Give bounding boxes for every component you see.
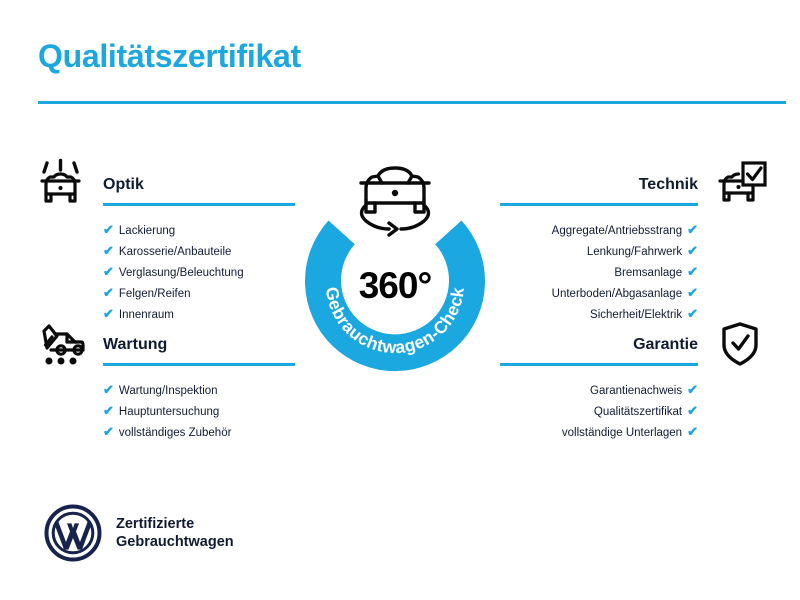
section-header-garantie: Garantie — [498, 318, 768, 370]
section-underline-technik — [500, 203, 698, 206]
list-item-label: Felgen/Reifen — [119, 284, 191, 304]
list-item: ✔Felgen/Reifen — [33, 283, 295, 304]
footer-logo-line2: Gebrauchtwagen — [116, 533, 234, 551]
checklist-garantie: Garantienachweis✔ Qualitätszertifikat✔ v… — [498, 380, 768, 443]
list-item: ✔Karosserie/Anbauteile — [33, 241, 295, 262]
section-wartung: Wartung ✔Wartung/Inspektion ✔Hauptunters… — [33, 318, 295, 443]
volkswagen-logo-icon — [44, 504, 102, 562]
list-item: Bremsanlage✔ — [498, 262, 768, 283]
section-title-garantie: Garantie — [633, 336, 698, 354]
list-item: Unterboden/Abgasanlage✔ — [498, 283, 768, 304]
badge-360-gebrauchtwagen-check: Gebrauchtwagen-Check — [305, 152, 485, 384]
checklist-technik: Aggregate/Antriebsstrang✔ Lenkung/Fahrwe… — [498, 220, 768, 325]
check-icon: ✔ — [687, 241, 698, 261]
section-header-technik: Technik — [498, 158, 768, 210]
footer-logo-lockup: Zertifizierte Gebrauchtwagen — [44, 504, 234, 562]
checklist-wartung: ✔Wartung/Inspektion ✔Hauptuntersuchung ✔… — [33, 380, 295, 443]
list-item-label: Karosserie/Anbauteile — [119, 242, 232, 262]
list-item: ✔Lackierung — [33, 220, 295, 241]
car-service-pencil-icon — [33, 318, 89, 370]
list-item: Garantienachweis✔ — [498, 380, 768, 401]
list-item-label: Garantienachweis — [590, 381, 682, 401]
list-item-label: vollständige Unterlagen — [562, 423, 682, 443]
section-optik: Optik ✔Lackierung ✔Karosserie/Anbauteile… — [33, 158, 295, 325]
list-item-label: Lackierung — [119, 221, 175, 241]
section-title-wartung: Wartung — [103, 336, 167, 354]
section-garantie: Garantie Garantienachweis✔ Qualitätszert… — [498, 318, 768, 443]
check-icon: ✔ — [103, 262, 114, 282]
section-underline-wartung — [103, 363, 295, 366]
section-title-optik: Optik — [103, 176, 144, 194]
badge-number: 360° — [305, 265, 485, 307]
footer-logo-line1: Zertifizierte — [116, 515, 234, 533]
section-technik: Technik Aggregate/Antriebsstrang✔ Lenkun… — [498, 158, 768, 325]
car-rotate-icon — [361, 168, 429, 235]
list-item: vollständige Unterlagen✔ — [498, 422, 768, 443]
check-icon: ✔ — [103, 401, 114, 421]
list-item-label: Aggregate/Antriebsstrang — [552, 221, 682, 241]
check-icon: ✔ — [687, 380, 698, 400]
check-icon: ✔ — [103, 422, 114, 442]
footer-logo-text: Zertifizierte Gebrauchtwagen — [116, 515, 234, 551]
page-title: Qualitätszertifikat — [38, 36, 301, 76]
list-item: ✔Hauptuntersuchung — [33, 401, 295, 422]
check-icon: ✔ — [103, 241, 114, 261]
checklist-optik: ✔Lackierung ✔Karosserie/Anbauteile ✔Verg… — [33, 220, 295, 325]
list-item-label: vollständiges Zubehör — [119, 423, 232, 443]
list-item: ✔vollständiges Zubehör — [33, 422, 295, 443]
list-item-label: Lenkung/Fahrwerk — [587, 242, 682, 262]
title-divider — [38, 101, 786, 104]
list-item-label: Wartung/Inspektion — [119, 381, 218, 401]
check-icon: ✔ — [103, 380, 114, 400]
list-item-label: Unterboden/Abgasanlage — [552, 284, 682, 304]
shield-check-icon — [712, 318, 768, 370]
check-icon: ✔ — [103, 283, 114, 303]
section-title-technik: Technik — [639, 176, 698, 194]
list-item-label: Qualitätszertifikat — [594, 402, 682, 422]
check-icon: ✔ — [687, 422, 698, 442]
check-icon: ✔ — [103, 220, 114, 240]
list-item-label: Bremsanlage — [614, 263, 682, 283]
qualitaetszertifikat-infographic: Qualitätszertifikat — [0, 0, 800, 600]
list-item: ✔Verglasung/Beleuchtung — [33, 262, 295, 283]
list-item: Qualitätszertifikat✔ — [498, 401, 768, 422]
check-icon: ✔ — [687, 401, 698, 421]
car-checkbox-icon — [712, 158, 768, 210]
check-icon: ✔ — [687, 262, 698, 282]
car-polish-icon — [33, 158, 89, 210]
list-item: ✔Wartung/Inspektion — [33, 380, 295, 401]
list-item-label: Hauptuntersuchung — [119, 402, 219, 422]
check-icon: ✔ — [687, 283, 698, 303]
check-icon: ✔ — [687, 220, 698, 240]
list-item: Aggregate/Antriebsstrang✔ — [498, 220, 768, 241]
section-header-optik: Optik — [33, 158, 295, 210]
list-item-label: Verglasung/Beleuchtung — [119, 263, 244, 283]
section-header-wartung: Wartung — [33, 318, 295, 370]
list-item: Lenkung/Fahrwerk✔ — [498, 241, 768, 262]
section-underline-garantie — [500, 363, 698, 366]
section-underline-optik — [103, 203, 295, 206]
